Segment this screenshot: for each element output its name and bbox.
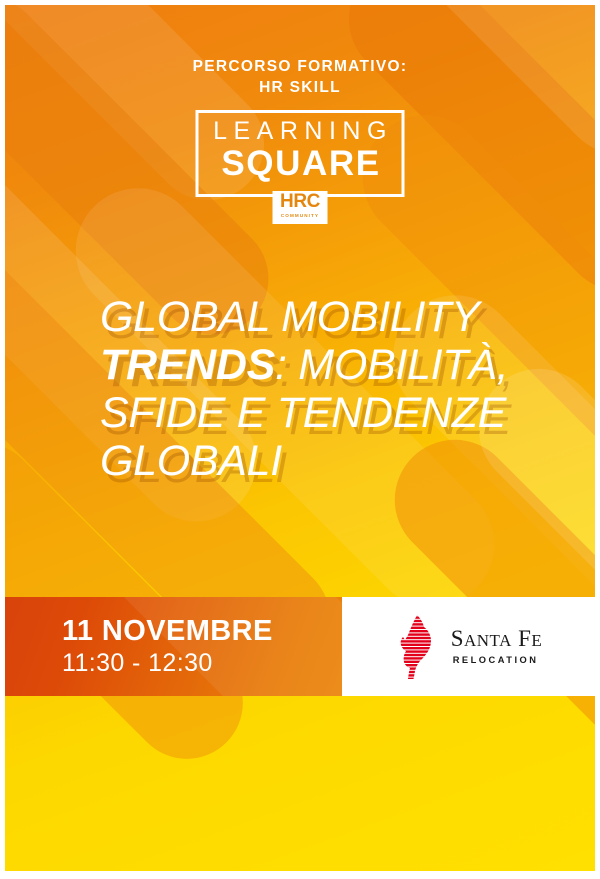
title-line-1: GLOBAL MOBILITY	[100, 293, 570, 341]
santa-fe-horse-icon	[395, 613, 437, 681]
learning-square-logo: LEARNING SQUARE	[196, 110, 405, 197]
title-line-4: GLOBALI	[100, 437, 570, 485]
sf-name-e: E	[531, 631, 542, 650]
sf-name-anta: ANTA	[464, 631, 512, 650]
logo-line-learning: LEARNING	[199, 119, 402, 144]
santa-fe-horse-svg	[395, 613, 437, 681]
kicker-text: PERCORSO FORMATIVO: HR SKILL	[5, 57, 595, 98]
horse-stripes	[395, 613, 437, 680]
title-line-2-rest: : MOBILITÀ,	[275, 341, 508, 389]
sponsor-panel: SANTA FE RELOCATION	[342, 597, 595, 696]
logo-line-square: SQUARE	[199, 146, 402, 183]
poster-root: PERCORSO FORMATIVO: HR SKILL LEARNING SQ…	[0, 0, 600, 879]
event-datetime-panel: 11 NOVEMBRE 11:30 - 12:30	[5, 597, 342, 696]
santa-fe-subtitle: RELOCATION	[453, 656, 543, 665]
event-info-band: 11 NOVEMBRE 11:30 - 12:30	[5, 597, 595, 696]
hrc-community-label: COMMUNITY	[281, 214, 319, 219]
title-line-2: TRENDS: MOBILITÀ,	[100, 341, 570, 389]
page-title: GLOBAL MOBILITY TRENDS: MOBILITÀ, SFIDE …	[100, 293, 570, 486]
event-time: 11:30 - 12:30	[62, 648, 342, 678]
event-date: 11 NOVEMBRE	[62, 615, 342, 647]
hrc-community-badge: HRC COMMUNITY	[273, 191, 328, 224]
santa-fe-wordmark: SANTA FE RELOCATION	[451, 627, 543, 665]
sf-name-s: S	[451, 626, 464, 651]
title-emphasis: TRENDS	[100, 341, 275, 389]
santa-fe-name: SANTA FE	[451, 627, 543, 650]
hrc-letters: HRC	[280, 192, 320, 211]
header: PERCORSO FORMATIVO: HR SKILL	[5, 57, 595, 98]
sf-name-f: F	[518, 626, 531, 651]
learning-square-logo-inner: LEARNING SQUARE	[199, 119, 402, 183]
poster-artwork: PERCORSO FORMATIVO: HR SKILL LEARNING SQ…	[5, 5, 595, 871]
title-line-3: SFIDE E TENDENZE	[100, 389, 570, 437]
